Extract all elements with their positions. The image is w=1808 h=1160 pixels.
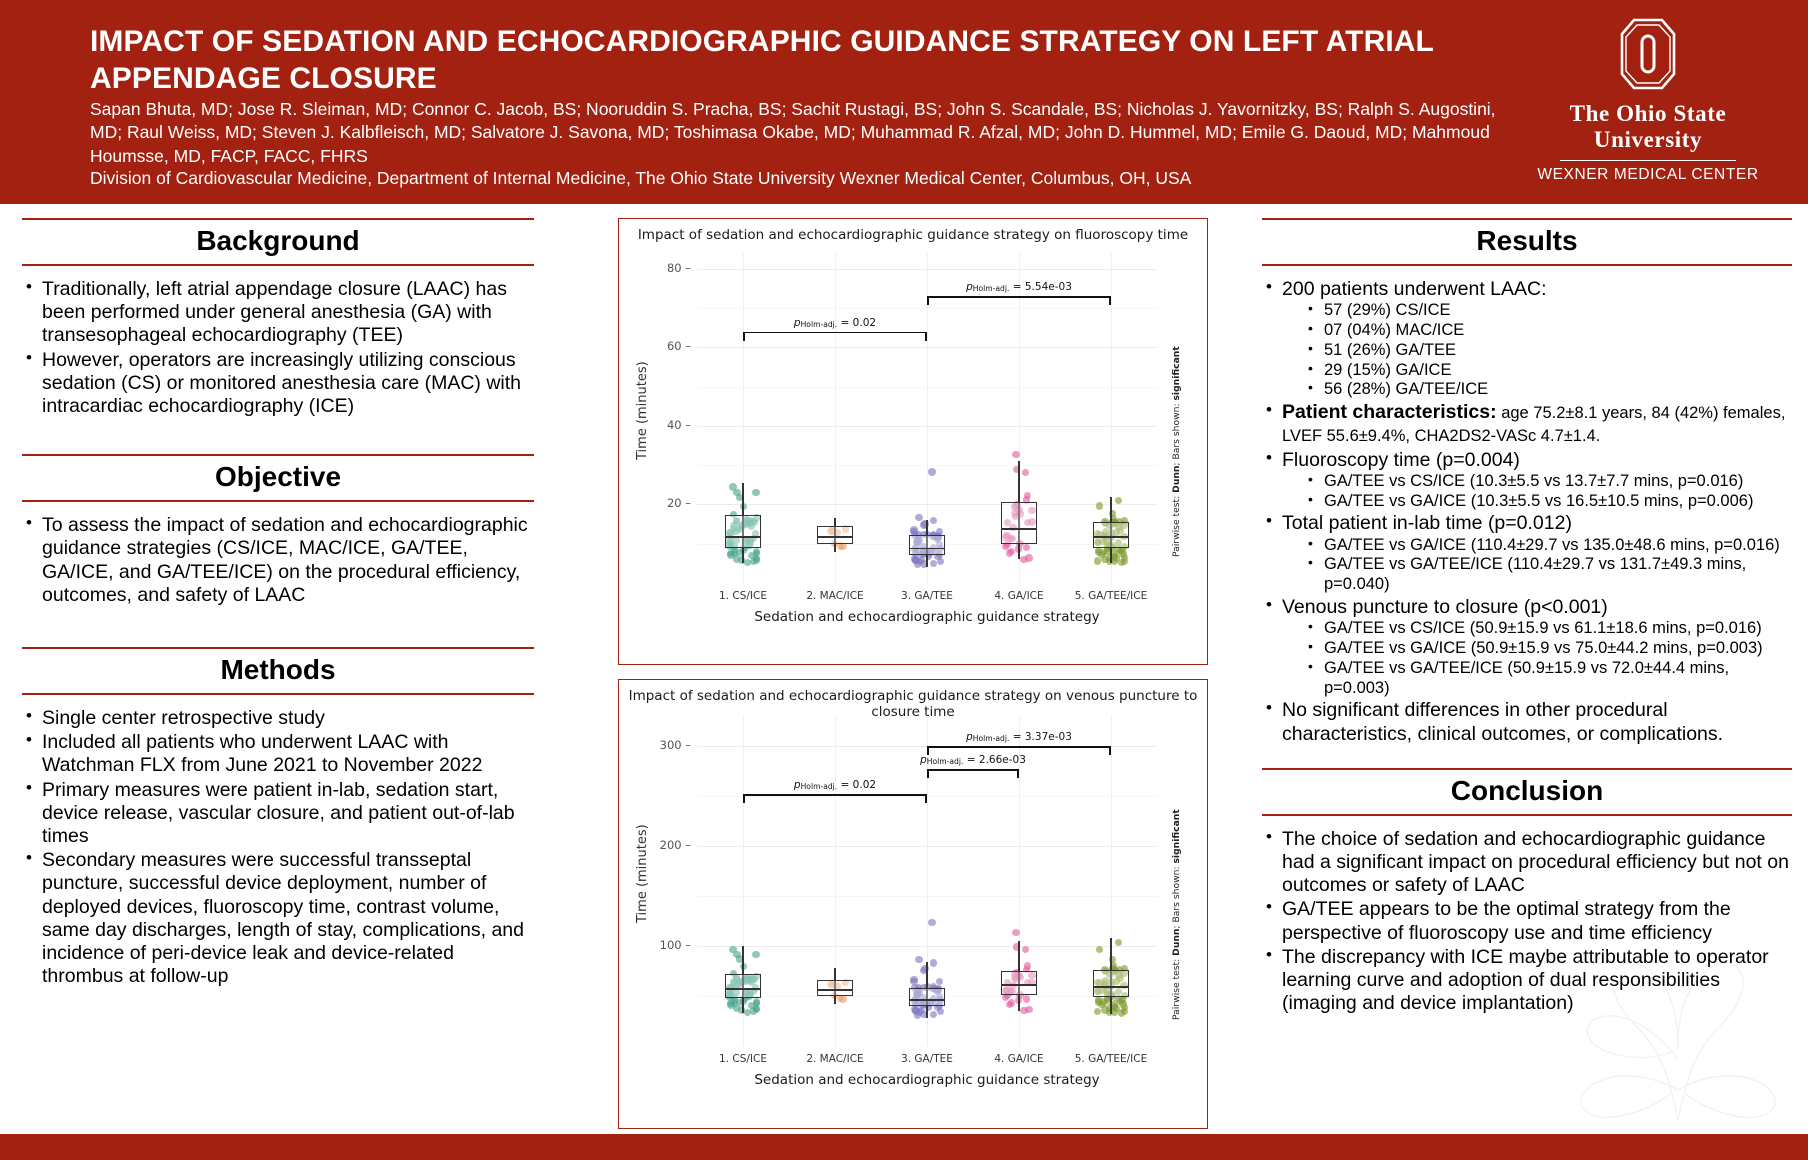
data-point bbox=[928, 919, 935, 926]
list-item: Traditionally, left atrial appendage clo… bbox=[22, 278, 534, 348]
plot-area: 100 –200 –300 –pHolm-adj. = 0.02pHolm-ad… bbox=[697, 716, 1157, 1046]
background-bullets: Traditionally, left atrial appendage clo… bbox=[22, 278, 534, 418]
median-line bbox=[725, 536, 762, 538]
osu-block-o-icon bbox=[1620, 18, 1676, 90]
data-point bbox=[930, 1011, 937, 1018]
significance-bracket bbox=[927, 296, 1111, 306]
section-methods: Methods Single center retrospective stud… bbox=[22, 647, 534, 988]
sub-list: GA/TEE vs CS/ICE (50.9±15.9 vs 61.1±18.6… bbox=[1304, 619, 1792, 698]
data-point bbox=[1024, 962, 1031, 969]
affiliation-line: Division of Cardiovascular Medicine, Dep… bbox=[90, 167, 1520, 190]
sub-list-item: GA/TEE vs CS/ICE (10.3±5.5 vs 13.7±7.7 m… bbox=[1304, 472, 1792, 492]
data-point bbox=[752, 951, 759, 958]
data-point bbox=[910, 528, 917, 535]
box bbox=[1001, 971, 1038, 995]
results-label: Patient characteristics: bbox=[1282, 401, 1497, 423]
list-item: Included all patients who underwent LAAC… bbox=[22, 731, 534, 777]
chart-fluoroscopy-time: Impact of sedation and echocardiographic… bbox=[618, 218, 1208, 665]
data-point bbox=[1023, 544, 1030, 551]
data-point bbox=[1119, 550, 1126, 557]
list-item: Fluoroscopy time (p=0.004)GA/TEE vs CS/I… bbox=[1262, 449, 1792, 512]
sub-list: 57 (29%) CS/ICE07 (04%) MAC/ICE51 (26%) … bbox=[1304, 301, 1792, 400]
data-point bbox=[1025, 1006, 1032, 1013]
p-value-label: pHolm-adj. = 0.02 bbox=[794, 317, 876, 329]
footer-bar bbox=[0, 1134, 1808, 1160]
list-item: Primary measures were patient in-lab, se… bbox=[22, 779, 534, 849]
data-point bbox=[910, 978, 917, 985]
results-heading: Results bbox=[1262, 218, 1792, 266]
sub-list: GA/TEE vs CS/ICE (10.3±5.5 vs 13.7±7.7 m… bbox=[1304, 472, 1792, 512]
y-axis-tick: 100 – bbox=[657, 938, 691, 952]
list-item: Patient characteristics: age 75.2±8.1 ye… bbox=[1262, 401, 1792, 447]
chart-venous-puncture-time: Impact of sedation and echocardiographic… bbox=[618, 679, 1208, 1129]
sub-list-item: 51 (26%) GA/TEE bbox=[1304, 341, 1792, 361]
list-item: However, operators are increasingly util… bbox=[22, 349, 534, 419]
data-point bbox=[930, 560, 937, 567]
section-results: Results 200 patients underwent LAAC:57 (… bbox=[1262, 218, 1792, 746]
box bbox=[1093, 970, 1130, 997]
median-line bbox=[1093, 536, 1130, 538]
data-point bbox=[1115, 497, 1122, 504]
results-bullets: 200 patients underwent LAAC:57 (29%) CS/… bbox=[1262, 278, 1792, 746]
y-axis-title: Time (minutes) bbox=[635, 824, 650, 923]
y-axis-title: Time (minutes) bbox=[635, 361, 650, 460]
data-point bbox=[928, 468, 935, 475]
objective-heading: Objective bbox=[22, 454, 534, 502]
charts-column: Impact of sedation and echocardiographic… bbox=[618, 218, 1208, 1128]
significance-bracket bbox=[743, 332, 927, 342]
list-item: Single center retrospective study bbox=[22, 707, 534, 730]
box bbox=[1001, 502, 1038, 543]
box bbox=[725, 515, 762, 548]
section-objective: Objective To assess the impact of sedati… bbox=[22, 454, 534, 607]
sub-list-item: GA/TEE vs CS/ICE (50.9±15.9 vs 61.1±18.6… bbox=[1304, 619, 1792, 639]
list-item: Secondary measures were successful trans… bbox=[22, 849, 534, 988]
list-item: Total patient in-lab time (p=0.012)GA/TE… bbox=[1262, 512, 1792, 595]
significance-bracket bbox=[927, 769, 1019, 779]
y-axis-tick: 20 – bbox=[657, 496, 691, 510]
data-point bbox=[1118, 559, 1125, 566]
section-conclusion: Conclusion The choice of sedation and ec… bbox=[1262, 768, 1792, 1016]
p-value-label: pHolm-adj. = 3.37e-03 bbox=[966, 731, 1072, 743]
sub-list: GA/TEE vs GA/ICE (110.4±29.7 vs 135.0±48… bbox=[1304, 536, 1792, 595]
sub-list-item: 07 (04%) MAC/ICE bbox=[1304, 321, 1792, 341]
osu-wordmark: The Ohio State University bbox=[1518, 101, 1778, 153]
x-axis-title: Sedation and echocardiographic guidance … bbox=[697, 609, 1157, 625]
chart-title: Impact of sedation and echocardiographic… bbox=[619, 227, 1207, 243]
data-point bbox=[1022, 946, 1029, 953]
right-column: Results 200 patients underwent LAAC:57 (… bbox=[1262, 218, 1792, 1130]
p-value-label: pHolm-adj. = 0.02 bbox=[794, 779, 876, 791]
data-point bbox=[915, 956, 922, 963]
x-axis-tick: 3. GA/TEE bbox=[881, 590, 973, 602]
x-axis-tick: 5. GA/TEE/ICE bbox=[1065, 590, 1157, 602]
data-point bbox=[1094, 1008, 1101, 1015]
data-point bbox=[1119, 1000, 1126, 1007]
left-column: Background Traditionally, left atrial ap… bbox=[22, 218, 534, 1130]
section-background: Background Traditionally, left atrial ap… bbox=[22, 218, 534, 418]
sub-list-item: GA/TEE vs GA/ICE (110.4±29.7 vs 135.0±48… bbox=[1304, 536, 1792, 556]
plot-side-note: Pairwise test: Dunn; Bars shown: signifi… bbox=[1171, 809, 1182, 1020]
conclusion-bullets: The choice of sedation and echocardiogra… bbox=[1262, 828, 1792, 1016]
box bbox=[725, 974, 762, 998]
data-point bbox=[1023, 995, 1030, 1002]
data-point bbox=[937, 558, 944, 565]
x-axis-tick: 2. MAC/ICE bbox=[789, 590, 881, 602]
median-line bbox=[725, 988, 762, 990]
osu-line1: The Ohio State bbox=[1570, 101, 1727, 126]
median-line bbox=[1093, 986, 1130, 988]
background-heading: Background bbox=[22, 218, 534, 266]
data-point bbox=[1022, 469, 1029, 476]
sub-list-item: GA/TEE vs GA/TEE/ICE (50.9±15.9 vs 72.0±… bbox=[1304, 659, 1792, 699]
median-line bbox=[817, 536, 854, 538]
data-point bbox=[752, 489, 759, 496]
list-item: To assess the impact of sedation and ech… bbox=[22, 514, 534, 607]
significance-bracket bbox=[743, 794, 927, 804]
list-item: No significant differences in other proc… bbox=[1262, 699, 1792, 745]
sub-list-item: 57 (29%) CS/ICE bbox=[1304, 301, 1792, 321]
data-point bbox=[1024, 492, 1031, 499]
data-point bbox=[1006, 549, 1013, 556]
osu-logo: The Ohio State University WEXNER MEDICAL… bbox=[1518, 18, 1778, 188]
list-item: The choice of sedation and echocardiogra… bbox=[1262, 828, 1792, 898]
p-value-label: pHolm-adj. = 5.54e-03 bbox=[966, 281, 1072, 293]
list-item: GA/TEE appears to be the optimal strateg… bbox=[1262, 898, 1792, 944]
sub-list-item: GA/TEE vs GA/TEE/ICE (110.4±29.7 vs 131.… bbox=[1304, 555, 1792, 595]
y-axis-tick: 80 – bbox=[657, 261, 691, 275]
y-axis-tick: 60 – bbox=[657, 339, 691, 353]
x-axis-tick: 4. GA/ICE bbox=[973, 1053, 1065, 1065]
data-point bbox=[1096, 946, 1103, 953]
sub-list-item: GA/TEE vs GA/ICE (10.3±5.5 vs 16.5±10.5 … bbox=[1304, 492, 1792, 512]
data-point bbox=[930, 517, 937, 524]
median-line bbox=[1001, 528, 1038, 530]
y-axis-tick: 200 – bbox=[657, 838, 691, 852]
sub-list-item: 29 (15%) GA/ICE bbox=[1304, 361, 1792, 381]
median-line bbox=[909, 548, 946, 550]
median-line bbox=[817, 989, 854, 991]
box bbox=[817, 980, 854, 996]
x-axis-tick: 1. CS/ICE bbox=[697, 1053, 789, 1065]
objective-bullets: To assess the impact of sedation and ech… bbox=[22, 514, 534, 607]
x-axis-tick: 1. CS/ICE bbox=[697, 590, 789, 602]
x-axis-title: Sedation and echocardiographic guidance … bbox=[697, 1072, 1157, 1088]
data-point bbox=[1094, 557, 1101, 564]
data-point bbox=[930, 959, 937, 966]
list-item: 200 patients underwent LAAC:57 (29%) CS/… bbox=[1262, 278, 1792, 400]
x-axis-tick: 5. GA/TEE/ICE bbox=[1065, 1053, 1157, 1065]
plot-area: 20 –40 –60 –80 –pHolm-adj. = 0.02pHolm-a… bbox=[697, 253, 1157, 583]
significance-bracket bbox=[927, 746, 1111, 756]
y-axis-tick: 300 – bbox=[657, 738, 691, 752]
list-item: The discrepancy with ICE maybe attributa… bbox=[1262, 946, 1792, 1016]
page-title: IMPACT OF SEDATION AND ECHOCARDIOGRAPHIC… bbox=[90, 24, 1470, 97]
data-point bbox=[937, 1008, 944, 1015]
median-line bbox=[909, 999, 946, 1001]
conclusion-heading: Conclusion bbox=[1262, 768, 1792, 816]
sub-list-item: GA/TEE vs GA/ICE (50.9±15.9 vs 75.0±44.2… bbox=[1304, 639, 1792, 659]
box bbox=[909, 535, 946, 555]
data-point bbox=[1025, 554, 1032, 561]
list-item: Venous puncture to closure (p<0.001)GA/T… bbox=[1262, 596, 1792, 698]
box bbox=[909, 988, 946, 1006]
data-point bbox=[1096, 502, 1103, 509]
poster-header: IMPACT OF SEDATION AND ECHOCARDIOGRAPHIC… bbox=[0, 0, 1808, 204]
x-axis-tick: 4. GA/ICE bbox=[973, 590, 1065, 602]
author-list: Sapan Bhuta, MD; Jose R. Sleiman, MD; Co… bbox=[90, 98, 1520, 168]
x-axis-tick: 2. MAC/ICE bbox=[789, 1053, 881, 1065]
plot-side-note: Pairwise test: Dunn; Bars shown: signifi… bbox=[1171, 346, 1182, 557]
logo-divider bbox=[1560, 160, 1736, 162]
x-axis-tick: 3. GA/TEE bbox=[881, 1053, 973, 1065]
methods-heading: Methods bbox=[22, 647, 534, 695]
osu-line2: University bbox=[1594, 127, 1702, 152]
y-axis-tick: 40 – bbox=[657, 418, 691, 432]
data-point bbox=[727, 551, 734, 558]
data-point bbox=[1006, 1001, 1013, 1008]
data-point bbox=[936, 978, 943, 985]
data-point bbox=[727, 1001, 734, 1008]
data-point bbox=[1118, 1009, 1125, 1016]
methods-bullets: Single center retrospective study Includ… bbox=[22, 707, 534, 988]
osu-line3: WEXNER MEDICAL CENTER bbox=[1518, 166, 1778, 184]
median-line bbox=[1001, 984, 1038, 986]
sub-list-item: 56 (28%) GA/TEE/ICE bbox=[1304, 380, 1792, 400]
